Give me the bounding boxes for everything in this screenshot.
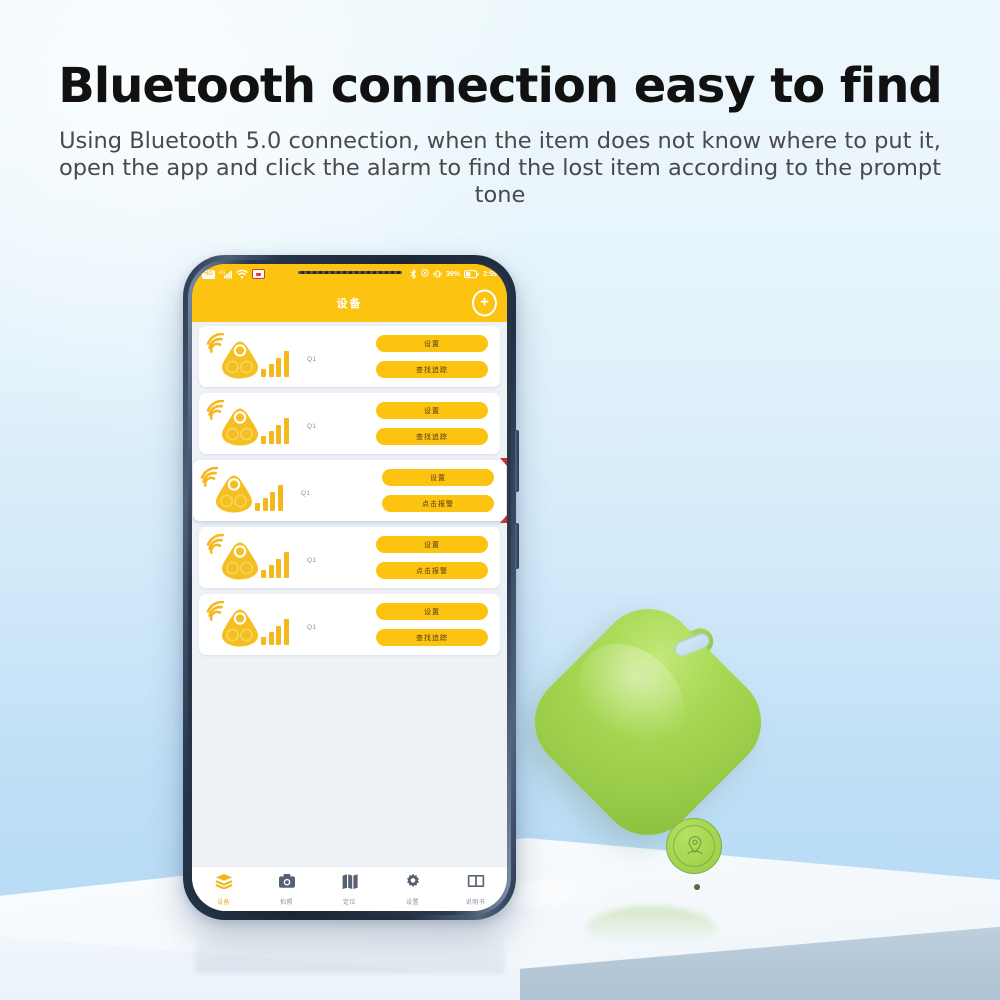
device-action-button[interactable]: 查找追踪: [376, 361, 488, 378]
tab-label: 定位: [343, 897, 356, 906]
add-device-button[interactable]: +: [472, 290, 497, 317]
device-visual: [199, 326, 307, 387]
bottom-tab-bar[interactable]: 设备拍照定位设置说明书: [192, 866, 507, 911]
device-row[interactable]: Q1设置查找追踪: [199, 326, 500, 387]
device-name-label: Q1: [307, 356, 360, 363]
product-banner: Bluetooth connection easy to find Using …: [0, 0, 1000, 1000]
bluetooth-icon: [410, 269, 417, 279]
device-visual: [193, 460, 301, 521]
app-bar-title: 设备: [337, 295, 363, 311]
phone-reflection: [195, 915, 505, 973]
battery-icon: [464, 270, 479, 279]
record-icon: [252, 269, 265, 279]
battery-percent-label: 39%: [446, 271, 460, 278]
location-icon: [421, 269, 429, 279]
device-name-label: Q1: [307, 423, 360, 430]
device-info: Q1: [307, 417, 360, 430]
tracker-device-icon: [212, 474, 256, 514]
device-actions: 设置查找追踪: [360, 402, 500, 445]
device-info: Q1: [307, 350, 360, 363]
phone-screen: HD 4G: [192, 264, 507, 911]
book-icon: [467, 873, 485, 894]
svg-text:4G: 4G: [219, 270, 226, 276]
gear-icon: [404, 873, 422, 894]
tracker-led-indicator: [694, 884, 700, 890]
signal-strength-bars: [261, 552, 289, 578]
device-actions: 设置点击报警: [360, 536, 500, 579]
tab-camera[interactable]: 拍照: [255, 873, 318, 906]
location-pin-icon: [683, 834, 707, 858]
phone-mockup: HD 4G: [183, 255, 516, 920]
device-actions: 设置查找追踪: [360, 335, 500, 378]
tab-label: 设置: [406, 897, 419, 906]
device-list[interactable]: Q1设置查找追踪Q1设置查找追踪Q1设置点击报警Q1设置点击报警Q1设置查找追踪: [192, 322, 507, 866]
device-visual: [199, 594, 307, 655]
device-name-label: Q1: [307, 557, 360, 564]
earpiece-speaker: [298, 271, 402, 274]
tracker-body: [515, 589, 781, 855]
camera-icon: [278, 873, 296, 894]
tracker-device-icon: [218, 407, 262, 447]
tracker-device-icon: [218, 608, 262, 648]
hd-icon: HD: [202, 270, 215, 279]
device-action-button[interactable]: 点击报警: [376, 562, 488, 579]
device-name-label: Q1: [301, 490, 366, 497]
tab-map[interactable]: 定位: [318, 873, 381, 906]
device-action-button[interactable]: 点击报警: [382, 495, 494, 512]
device-actions: 设置点击报警: [366, 469, 506, 512]
clock-label: 2:59: [483, 271, 497, 278]
tab-label: 说明书: [466, 897, 486, 906]
device-info: Q1: [307, 618, 360, 631]
tab-layers[interactable]: 设备: [192, 873, 255, 906]
status-bar: HD 4G: [192, 264, 507, 284]
device-settings-button[interactable]: 设置: [376, 335, 488, 352]
power-button[interactable]: [515, 523, 519, 569]
device-settings-button[interactable]: 设置: [376, 603, 488, 620]
device-name-label: Q1: [307, 624, 360, 631]
page-subtitle: Using Bluetooth 5.0 connection, when the…: [40, 128, 960, 209]
tab-label: 拍照: [280, 897, 293, 906]
device-info: Q1: [307, 551, 360, 564]
device-row[interactable]: Q1设置查找追踪: [199, 393, 500, 454]
layers-icon: [215, 873, 233, 894]
device-settings-button[interactable]: 设置: [376, 536, 488, 553]
page-title: Bluetooth connection easy to find: [0, 58, 1000, 114]
signal-strength-bars: [261, 418, 289, 444]
device-settings-button[interactable]: 设置: [376, 402, 488, 419]
app-bar: 设备 +: [192, 284, 507, 322]
device-settings-button[interactable]: 设置: [382, 469, 494, 486]
tab-gear[interactable]: 设置: [381, 873, 444, 906]
tab-label: 设备: [217, 897, 230, 906]
device-action-button[interactable]: 查找追踪: [376, 629, 488, 646]
device-row[interactable]: Q1设置点击报警: [199, 527, 500, 588]
vibrate-icon: [433, 269, 442, 279]
tracker-reflection: [586, 906, 716, 952]
device-visual: [199, 527, 307, 588]
map-icon: [341, 873, 359, 894]
device-row[interactable]: Q1设置点击报警: [193, 460, 506, 521]
signal-strength-bars: [261, 351, 289, 377]
device-info: Q1: [301, 484, 366, 497]
green-tracker-product: [546, 606, 764, 924]
signal-4g-icon: 4G: [219, 269, 232, 279]
signal-strength-bars: [261, 619, 289, 645]
volume-button[interactable]: [515, 430, 519, 492]
tracker-device-icon: [218, 541, 262, 581]
device-row[interactable]: Q1设置查找追踪: [199, 594, 500, 655]
signal-strength-bars: [255, 485, 283, 511]
device-actions: 设置查找追踪: [360, 603, 500, 646]
device-visual: [199, 393, 307, 454]
wifi-icon: [236, 269, 248, 279]
tracker-device-icon: [218, 340, 262, 380]
device-action-button[interactable]: 查找追踪: [376, 428, 488, 445]
